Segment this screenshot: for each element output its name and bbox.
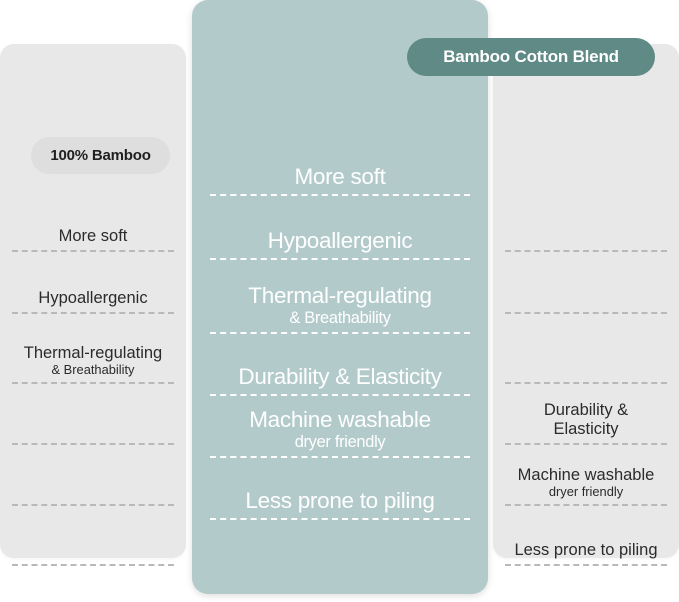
feature-label: Durability &Elasticity <box>544 401 628 445</box>
column-panel-cotton: 100% Cotton Durability &ElasticityMachin… <box>493 44 679 558</box>
feature-row: Machine washabledryer friendly <box>210 396 470 458</box>
feature-row: More soft <box>210 136 470 196</box>
feature-sublabel: Elasticity <box>544 420 628 438</box>
feature-list-blend: More softHypoallergenicThermal-regulatin… <box>192 136 488 520</box>
feature-row: Machine washabledryer friendly <box>505 445 667 506</box>
feature-row-empty <box>505 194 667 252</box>
feature-row: Durability &Elasticity <box>505 384 667 445</box>
feature-label: Less prone to piling <box>514 541 657 566</box>
feature-label: Durability & Elasticity <box>238 364 441 396</box>
feature-sublabel: dryer friendly <box>518 485 655 499</box>
column-badge-bamboo: 100% Bamboo <box>31 137 170 174</box>
feature-label: More soft <box>294 164 385 196</box>
feature-row-empty <box>12 384 174 445</box>
feature-divider <box>210 518 470 520</box>
feature-sublabel: dryer friendly <box>249 433 431 451</box>
feature-label: Machine washabledryer friendly <box>249 407 431 458</box>
feature-sublabel: & Breathability <box>248 309 431 327</box>
feature-row: Less prone to piling <box>210 458 470 520</box>
feature-row-empty <box>505 314 667 384</box>
feature-label: Hypoallergenic <box>268 228 413 260</box>
feature-row: Thermal-regulating& Breathability <box>12 314 174 384</box>
feature-row: More soft <box>12 194 174 252</box>
comparison-table: 100% Bamboo More softHypoallergenicTherm… <box>0 0 679 602</box>
feature-row-empty <box>505 252 667 314</box>
column-panel-bamboo: 100% Bamboo More softHypoallergenicTherm… <box>0 44 186 558</box>
feature-row: Thermal-regulating& Breathability <box>210 260 470 334</box>
feature-row: Less prone to piling <box>505 506 667 566</box>
feature-label: Less prone to piling <box>245 488 434 520</box>
feature-label: Hypoallergenic <box>38 289 147 314</box>
feature-list-bamboo: More softHypoallergenicThermal-regulatin… <box>0 194 186 566</box>
feature-label: More soft <box>59 227 128 252</box>
column-panel-blend: Bamboo Cotton Blend More softHypoallerge… <box>192 0 488 594</box>
feature-divider <box>505 564 667 566</box>
feature-row: Hypoallergenic <box>210 196 470 260</box>
feature-row-empty <box>12 506 174 566</box>
feature-row-empty <box>12 445 174 506</box>
feature-label: Machine washabledryer friendly <box>518 466 655 506</box>
feature-label: Thermal-regulating& Breathability <box>24 344 162 384</box>
feature-label: Thermal-regulating& Breathability <box>248 283 431 334</box>
feature-row: Durability & Elasticity <box>210 334 470 396</box>
feature-row: Hypoallergenic <box>12 252 174 314</box>
feature-sublabel: & Breathability <box>24 363 162 377</box>
feature-divider <box>12 564 174 566</box>
feature-list-cotton: Durability &ElasticityMachine washabledr… <box>493 194 679 566</box>
column-badge-blend: Bamboo Cotton Blend <box>407 38 655 76</box>
